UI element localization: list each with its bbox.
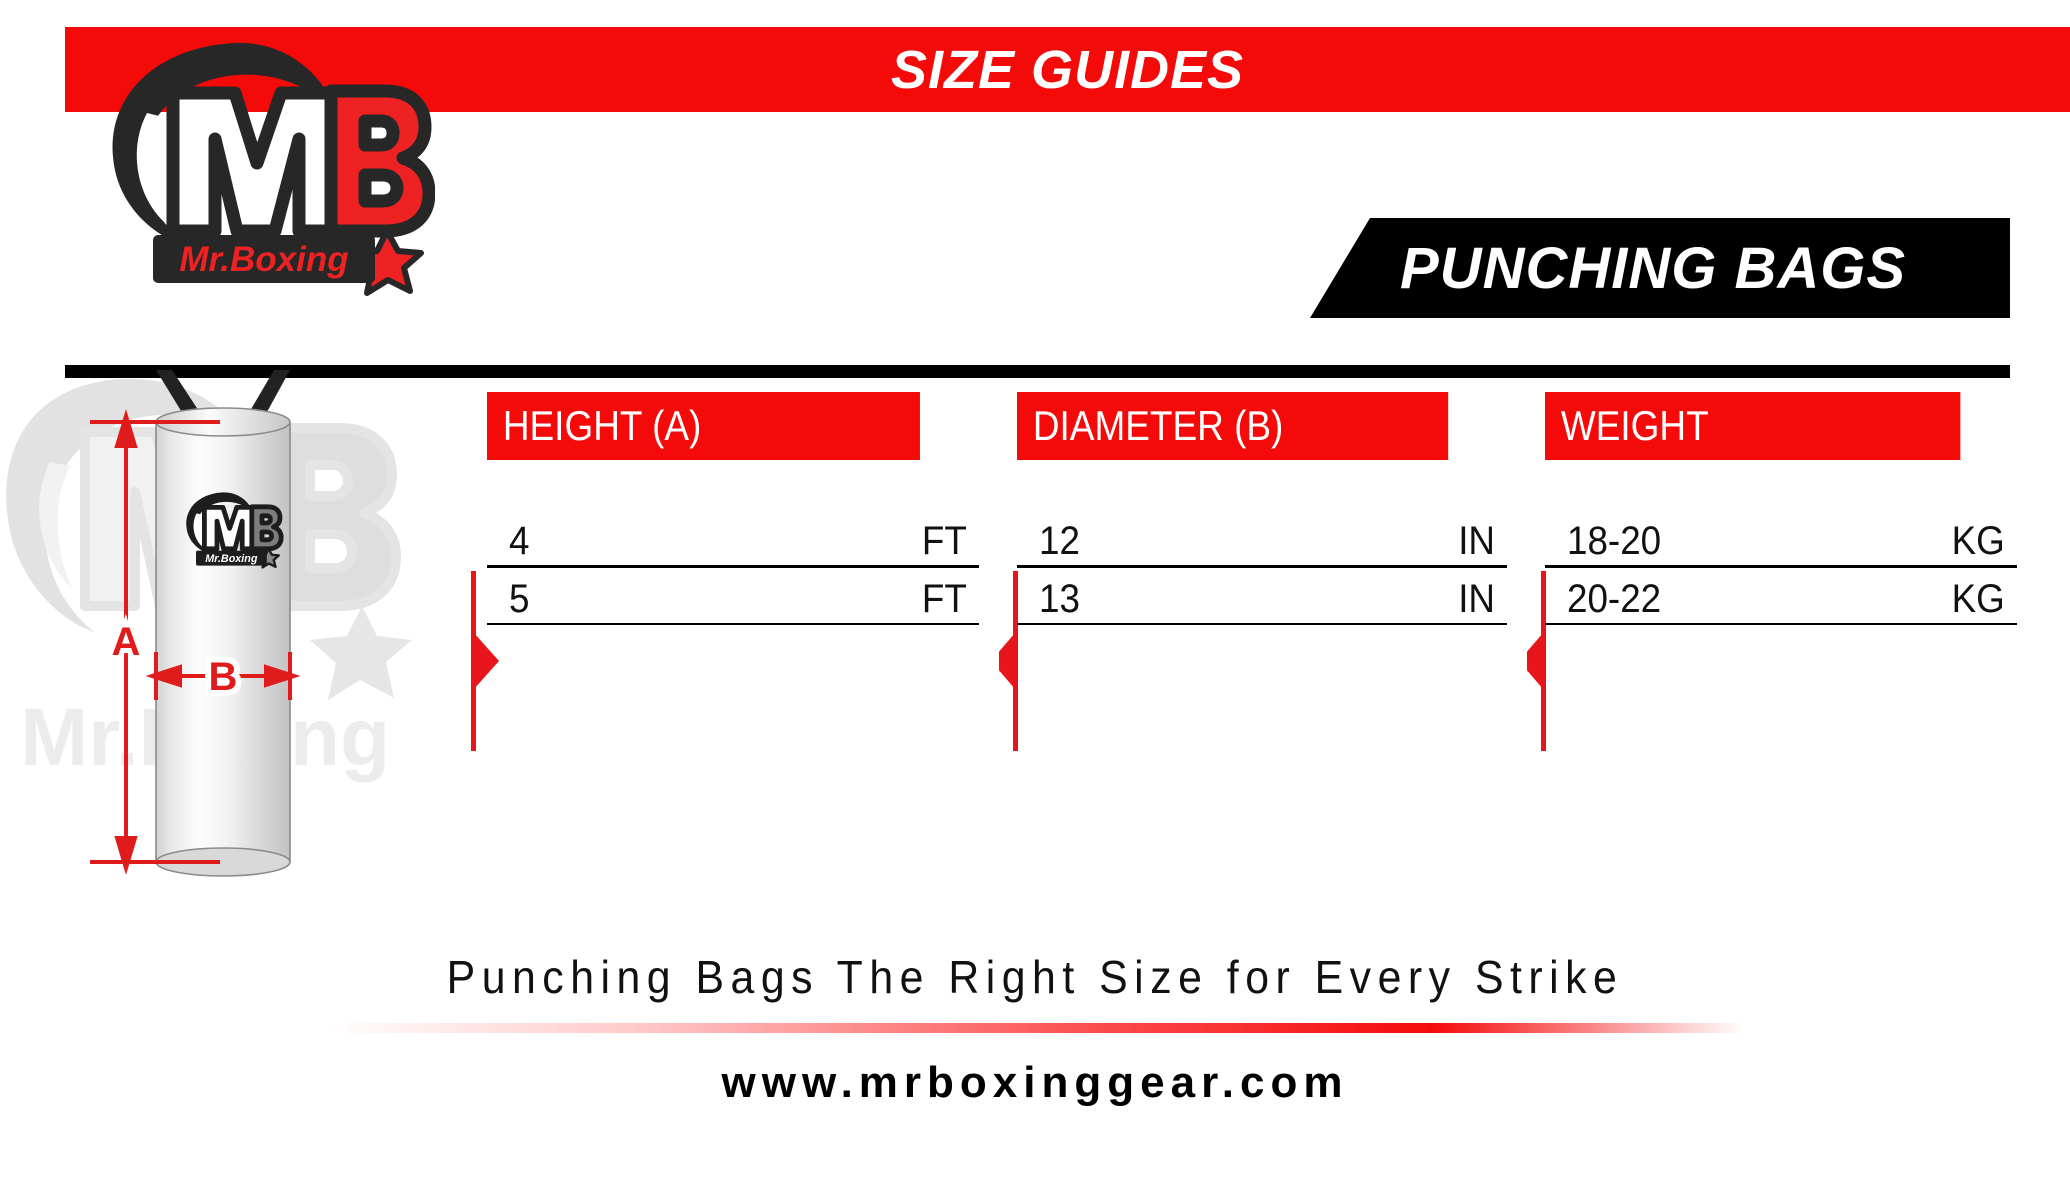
punching-bag-diagram: Mr.Boxing A B xyxy=(60,370,440,930)
logo-brand-name: Mr.Boxing xyxy=(179,240,348,279)
table-row: 5 FT xyxy=(487,568,979,625)
height-dimension-label: A xyxy=(112,620,141,664)
cell-value: 20-22 xyxy=(1567,579,1661,619)
diameter-dimension-label: B xyxy=(209,655,238,699)
column-header-height: HEIGHT (A) xyxy=(487,392,920,460)
size-guide-infographic: SIZE GUIDES Mr.Boxing PUNCHING BAGS xyxy=(0,0,2070,1196)
spec-column-weight: WEIGHT 18-20 KG 20-22 KG xyxy=(1545,392,2017,625)
punching-bags-title: PUNCHING BAGS xyxy=(1310,218,2010,318)
mb-brand-logo: Mr.Boxing xyxy=(85,35,435,305)
svg-text:Mr.Boxing: Mr.Boxing xyxy=(205,553,258,565)
column-body-weight: 18-20 KG 20-22 KG xyxy=(1545,511,2017,625)
spec-column-height: HEIGHT (A) 4 FT 5 FT xyxy=(487,392,979,625)
cell-unit: IN xyxy=(1458,579,1495,619)
cell-value: 4 xyxy=(509,521,529,561)
table-row: 20-22 KG xyxy=(1545,568,2017,625)
column-header-diameter: DIAMETER (B) xyxy=(1017,392,1448,460)
cell-value: 18-20 xyxy=(1567,521,1661,561)
cell-value: 5 xyxy=(509,579,529,619)
table-row: 18-20 KG xyxy=(1545,511,2017,568)
column-body-diameter: 12 IN 13 IN xyxy=(1017,511,1507,625)
footer-tagline: Punching Bags The Right Size for Every S… xyxy=(72,950,1997,1004)
table-row: 13 IN xyxy=(1017,568,1507,625)
cell-unit: KG xyxy=(1952,579,2005,619)
cell-value: 13 xyxy=(1039,579,1080,619)
column-body-height: 4 FT 5 FT xyxy=(487,511,979,625)
cell-unit: FT xyxy=(922,521,967,561)
cell-unit: KG xyxy=(1952,521,2005,561)
spec-column-diameter: DIAMETER (B) 12 IN 13 IN xyxy=(1017,392,1507,625)
table-row: 4 FT xyxy=(487,511,979,568)
footer-website[interactable]: www.mrboxinggear.com xyxy=(0,1058,2070,1108)
column-header-weight: WEIGHT xyxy=(1545,392,1960,460)
footer-divider xyxy=(325,1023,1745,1033)
cell-value: 12 xyxy=(1039,521,1080,561)
table-row: 12 IN xyxy=(1017,511,1507,568)
punching-bags-banner: PUNCHING BAGS xyxy=(1310,218,2010,318)
cell-unit: FT xyxy=(922,579,967,619)
cell-unit: IN xyxy=(1458,521,1495,561)
spec-table: HEIGHT (A) 4 FT 5 FT D xyxy=(487,392,2017,692)
